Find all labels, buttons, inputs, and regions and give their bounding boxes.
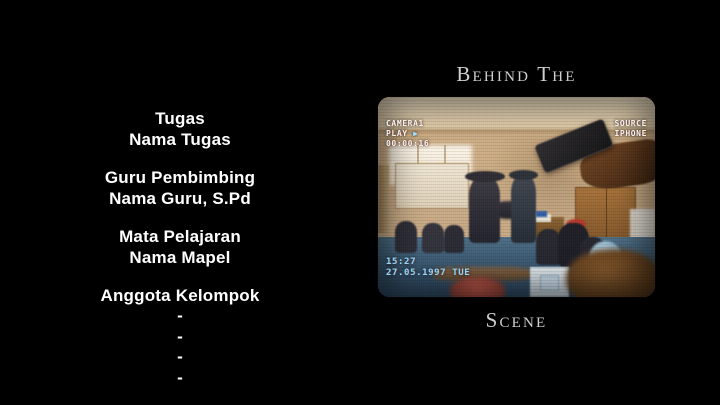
seated-person [395, 221, 417, 253]
seated-person [444, 225, 463, 253]
hud-clock: 15:27 [386, 257, 470, 268]
hud-top-left: CAMERA1 PLAY ▶ 00:00:16 [386, 119, 429, 149]
credit-group-mapel: Mata Pelajaran Nama Mapel [30, 226, 330, 268]
hud-play-row: PLAY ▶ [386, 129, 429, 139]
hud-date: 27.05.1997 TUE [386, 268, 470, 279]
credit-heading-tugas: Tugas [30, 108, 330, 129]
hud-source-value: IPHONE [615, 129, 648, 139]
hat [465, 171, 505, 182]
play-triangle-icon: ▶ [413, 129, 418, 138]
hud-timecode: 00:00:16 [386, 139, 429, 149]
seated-person [422, 223, 444, 253]
hud-top-right: SOURCE IPHONE [615, 119, 648, 139]
blue-box [536, 211, 547, 217]
credit-value-guru: Nama Guru, S.Pd [30, 188, 330, 209]
credit-group-anggota: Anggota Kelompok - - - - [30, 285, 330, 388]
member-list: - - - - [30, 306, 330, 388]
hud-source-label: SOURCE [615, 119, 648, 129]
credit-value-tugas: Nama Tugas [30, 129, 330, 150]
hud-camera-label: CAMERA1 [386, 119, 429, 129]
video-frame[interactable]: CAMERA1 PLAY ▶ 00:00:16 SOURCE IPHONE 15… [378, 97, 655, 297]
credit-group-guru: Guru Pembimbing Nama Guru, S.Pd [30, 167, 330, 209]
title-top: Behind The [378, 62, 655, 87]
credit-heading-guru: Guru Pembimbing [30, 167, 330, 188]
whiteboard [395, 163, 469, 209]
door-frame [378, 165, 389, 233]
credits-block: Tugas Nama Tugas Guru Pembimbing Nama Gu… [30, 108, 330, 388]
list-item: - [30, 327, 330, 348]
title-bottom: Scene [378, 308, 655, 333]
credit-heading-anggota: Anggota Kelompok [30, 285, 330, 306]
hud-play-label: PLAY [386, 129, 408, 138]
standing-person [511, 175, 536, 243]
hud-bottom-left: 15:27 27.05.1997 TUE [386, 257, 470, 279]
crate-label [540, 275, 559, 291]
hat [509, 170, 538, 180]
foreground-object [566, 249, 655, 297]
credit-group-tugas: Tugas Nama Tugas [30, 108, 330, 150]
standing-person [469, 177, 499, 243]
credit-heading-mapel: Mata Pelajaran [30, 226, 330, 247]
list-item: - [30, 368, 330, 389]
list-item: - [30, 306, 330, 327]
credit-value-mapel: Nama Mapel [30, 247, 330, 268]
list-item: - [30, 347, 330, 368]
foreground-object [450, 277, 505, 297]
seated-person [536, 229, 561, 265]
presentation-slide: Tugas Nama Tugas Guru Pembimbing Nama Gu… [0, 0, 720, 405]
